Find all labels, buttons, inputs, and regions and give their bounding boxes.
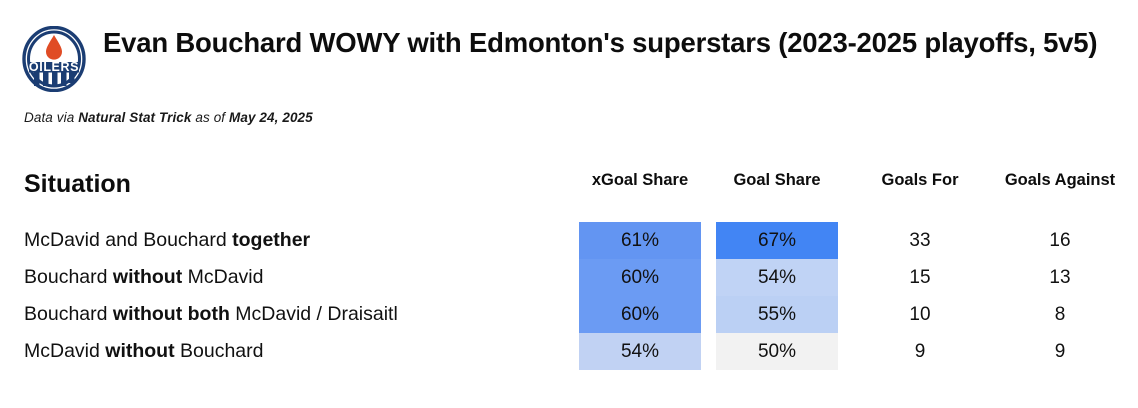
row-label-post: McDavid	[182, 266, 263, 288]
row-label-emphasis: without both	[113, 303, 230, 325]
row-label-pre: McDavid	[24, 340, 105, 362]
cell-goals-for: 15	[856, 259, 984, 296]
table-row: McDavid and Bouchard together 61% 67% 33…	[0, 222, 1138, 259]
row-label-post: Bouchard	[175, 340, 264, 362]
page-header: OILERS Evan Bouchard WOWY with Edmonton'…	[0, 0, 1138, 150]
source-name: Natural Stat Trick	[78, 110, 191, 125]
row-label-emphasis: together	[232, 229, 310, 251]
cell-goals-against: 13	[994, 259, 1126, 296]
cell-goals-against: 8	[994, 296, 1126, 333]
column-header-goals-against: Goals Against	[994, 170, 1126, 191]
cell-goal-share: 50%	[716, 333, 838, 370]
edmonton-oilers-logo-icon: OILERS	[22, 26, 86, 92]
cell-goal-share: 67%	[716, 222, 838, 259]
cell-xgoal-share: 54%	[579, 333, 701, 370]
cell-xgoal-share: 61%	[579, 222, 701, 259]
source-middle: as of	[192, 110, 229, 125]
column-header-xgoal-share: xGoal Share	[579, 170, 701, 191]
cell-xgoal-share: 60%	[579, 259, 701, 296]
table-row: Bouchard without both McDavid / Draisait…	[0, 296, 1138, 333]
row-label: McDavid without Bouchard	[24, 333, 564, 370]
row-label: Bouchard without both McDavid / Draisait…	[24, 296, 564, 333]
column-header-goals-for: Goals For	[856, 170, 984, 191]
row-label-pre: Bouchard	[24, 303, 113, 325]
row-label-pre: McDavid and Bouchard	[24, 229, 232, 251]
cell-goal-share: 54%	[716, 259, 838, 296]
row-label-emphasis: without	[113, 266, 182, 288]
column-header-goal-share: Goal Share	[716, 170, 838, 191]
row-label-pre: Bouchard	[24, 266, 113, 288]
page-title: Evan Bouchard WOWY with Edmonton's super…	[103, 26, 1123, 61]
data-source-note: Data via Natural Stat Trick as of May 24…	[24, 110, 313, 125]
row-label-emphasis: without	[105, 340, 174, 362]
column-header-situation: Situation	[24, 168, 131, 200]
table-row: McDavid without Bouchard 54% 50% 9 9	[0, 333, 1138, 370]
cell-goals-against: 16	[994, 222, 1126, 259]
cell-goal-share: 55%	[716, 296, 838, 333]
cell-goals-against: 9	[994, 333, 1126, 370]
cell-xgoal-share: 60%	[579, 296, 701, 333]
source-prefix: Data via	[24, 110, 78, 125]
cell-goals-for: 10	[856, 296, 984, 333]
logo-wordmark: OILERS	[29, 60, 79, 74]
table-row: Bouchard without McDavid 60% 54% 15 13	[0, 259, 1138, 296]
cell-goals-for: 9	[856, 333, 984, 370]
row-label: McDavid and Bouchard together	[24, 222, 564, 259]
row-label: Bouchard without McDavid	[24, 259, 564, 296]
source-date: May 24, 2025	[229, 110, 313, 125]
wowy-table: Situation xGoal Share Goal Share Goals F…	[0, 160, 1138, 400]
row-label-post: McDavid / Draisaitl	[230, 303, 398, 325]
cell-goals-for: 33	[856, 222, 984, 259]
